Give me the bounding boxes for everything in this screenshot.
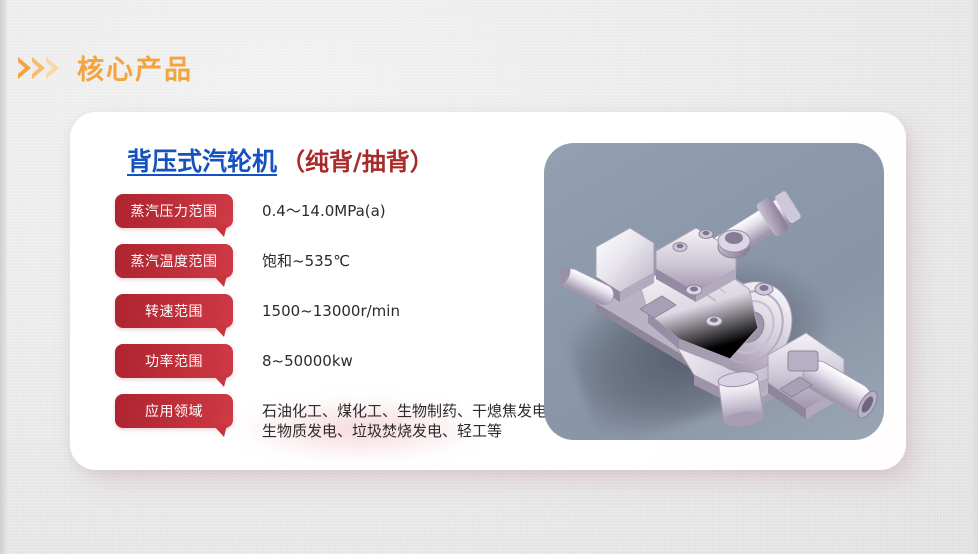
left-edge-strip [0,0,7,554]
spec-label-badge: 应用领域 [115,394,233,428]
product-title-main: 背压式汽轮机 [127,142,277,178]
spec-value: 饱和~535℃ [262,244,350,271]
product-title: 背压式汽轮机 （纯背/抽背） [127,142,434,178]
spec-row: 蒸汽压力范围 0.4～14.0MPa(a) [115,194,585,244]
chevron-1-icon [18,57,31,79]
spec-value: 1500~13000r/min [262,294,400,321]
spec-label-badge: 蒸汽压力范围 [115,194,233,228]
product-image-panel [544,143,884,440]
chevron-3-icon [46,57,59,79]
steam-turbine-3d-illustration [544,143,884,440]
section-header: 核心产品 [18,48,193,87]
right-edge-strip [972,0,978,554]
spec-row: 应用领域 石油化工、煤化工、生物制药、干熄焦发电、 生物质发电、垃圾焚烧发电、轻… [115,394,585,444]
spec-label-badge: 蒸汽温度范围 [115,244,233,278]
spec-value: 8~50000kw [262,344,353,371]
spec-label-badge: 转速范围 [115,294,233,328]
product-title-sub: （纯背/抽背） [281,142,434,177]
product-card: 背压式汽轮机 （纯背/抽背） 蒸汽压力范围 0.4～14.0MPa(a) 蒸汽温… [70,112,906,470]
spec-row: 蒸汽温度范围 饱和~535℃ [115,244,585,294]
spec-value: 0.4～14.0MPa(a) [262,194,386,221]
chevron-2-icon [32,57,45,79]
slide-canvas: 核心产品 背压式汽轮机 （纯背/抽背） 蒸汽压力范围 0.4～14.0MPa(a… [0,0,978,554]
spec-list: 蒸汽压力范围 0.4～14.0MPa(a) 蒸汽温度范围 饱和~535℃ 转速范… [115,194,585,444]
spec-row: 功率范围 8~50000kw [115,344,585,394]
spec-row: 转速范围 1500~13000r/min [115,294,585,344]
spec-label-badge: 功率范围 [115,344,233,378]
page-title: 核心产品 [77,48,193,87]
double-chevron-right-icon [18,57,59,79]
spec-value: 石油化工、煤化工、生物制药、干熄焦发电、 生物质发电、垃圾焚烧发电、轻工等 [262,394,562,441]
